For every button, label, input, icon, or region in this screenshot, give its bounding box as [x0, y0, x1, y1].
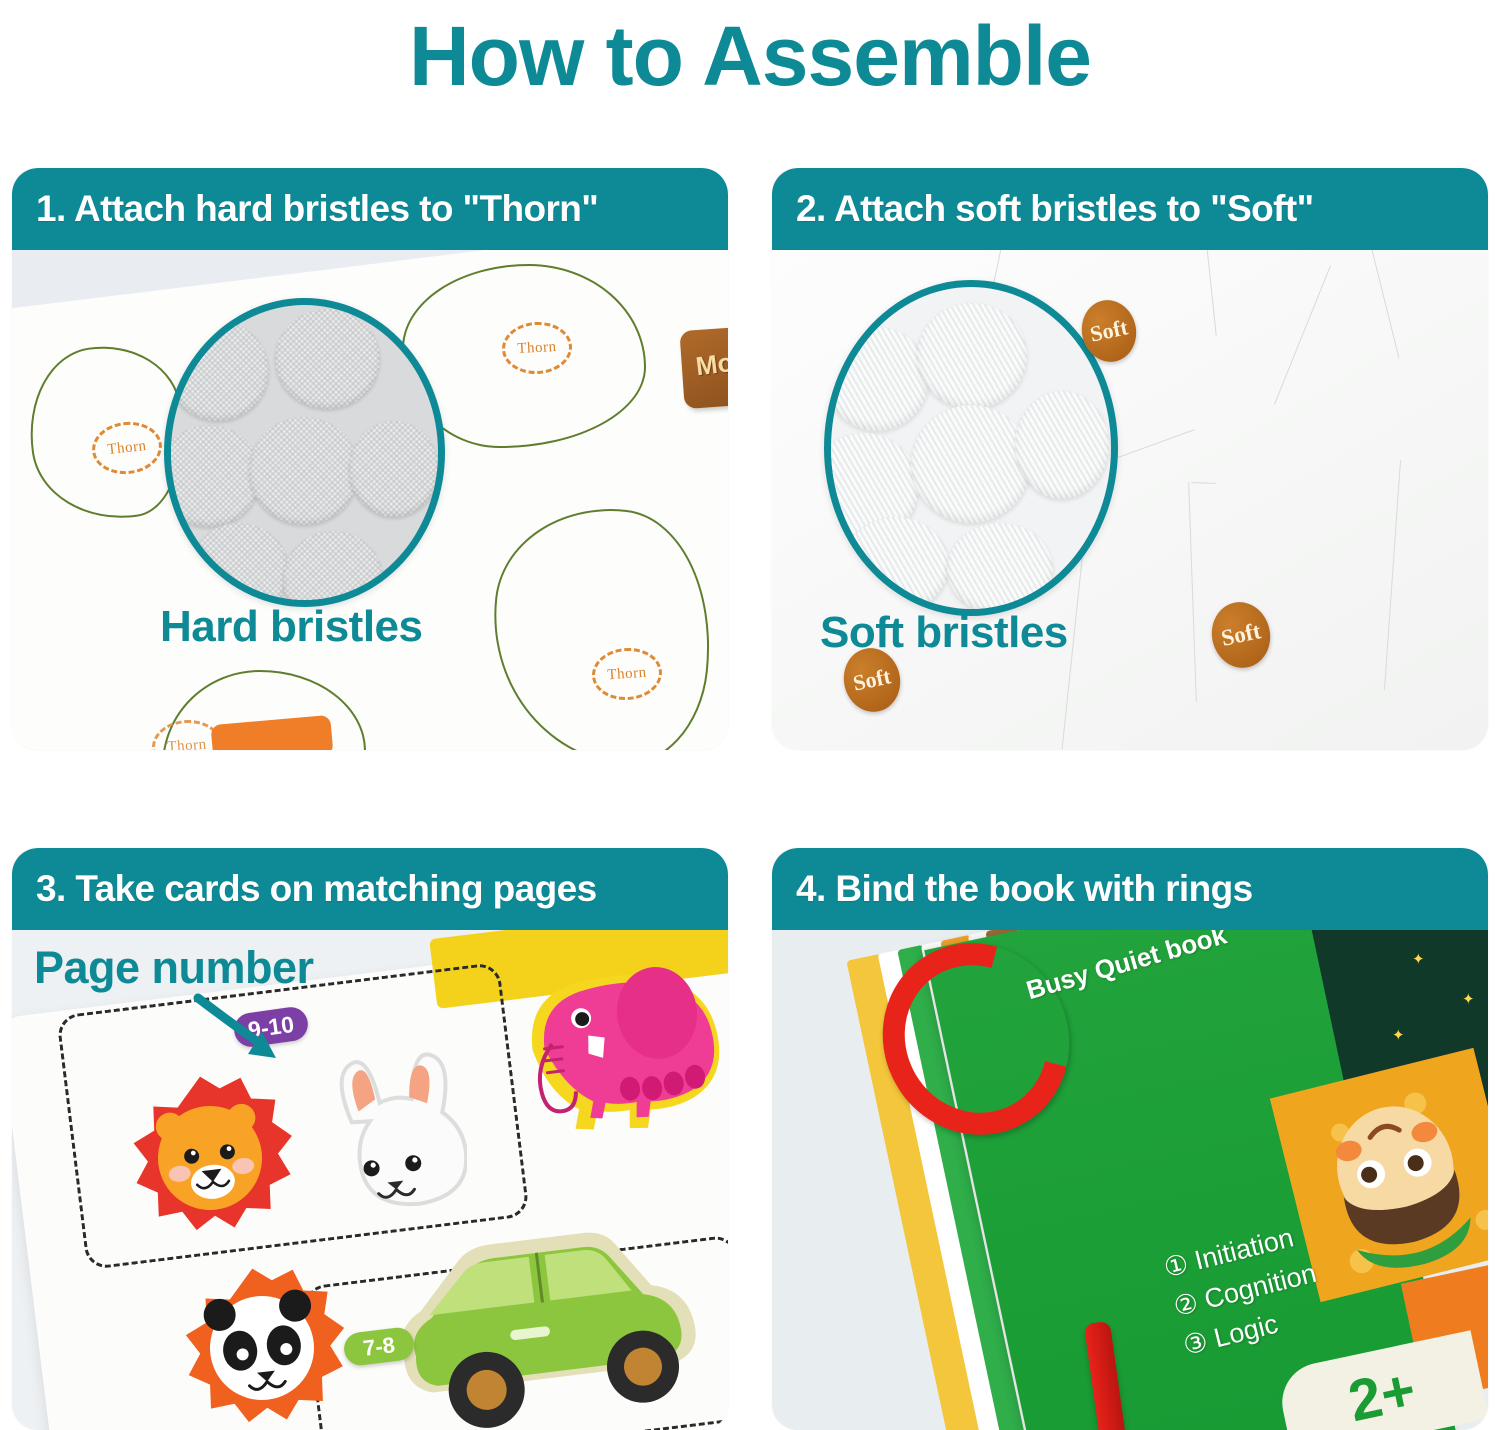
page-title: How to Assemble: [0, 4, 1500, 108]
velcro-dot: [283, 531, 383, 607]
panel-4-body: ✦ ✦ ✦ Busy Quiet book: [772, 930, 1488, 1430]
panel-1-photo: Thorn Thorn Thorn Thorn Mor Hard bristle…: [12, 250, 728, 750]
velcro-dot: [843, 517, 949, 613]
star-icon: ✦: [1392, 1026, 1405, 1044]
hard-bristles-caption: Hard bristles: [160, 602, 422, 652]
panel-step-1: 1. Attach hard bristles to "Thorn" Thorn…: [12, 168, 728, 750]
panel-2-body: Soft Soft Soft Soft bristles: [772, 250, 1488, 750]
velcro-dot: [1015, 391, 1109, 499]
panel-2-header-label: 2. Attach soft bristles to "Soft": [796, 188, 1314, 230]
velcro-dot: [917, 303, 1027, 409]
panel-3-header-label: 3. Take cards on matching pages: [36, 868, 597, 910]
velcro-dot: [249, 417, 359, 525]
panel-2-header: 2. Attach soft bristles to "Soft": [772, 168, 1488, 250]
velcro-dot: [911, 405, 1031, 523]
panel-step-3: 3. Take cards on matching pages: [12, 848, 728, 1430]
panel-3-photo: 9-10 7-8 Page number: [12, 930, 728, 1430]
elephant-sticker: [492, 940, 728, 1140]
paper-crease: [1274, 265, 1331, 404]
panel-step-2: 2. Attach soft bristles to "Soft" Soft: [772, 168, 1488, 750]
velcro-dot: [947, 523, 1053, 615]
panel-step-4: 4. Bind the book with rings ✦ ✦ ✦: [772, 848, 1488, 1430]
soft-marker: Soft: [1206, 597, 1276, 674]
soft-bristles-caption: Soft bristles: [820, 608, 1068, 658]
brown-card: Mor: [679, 325, 728, 409]
panda-sticker: [170, 1260, 355, 1430]
paper-crease: [1191, 482, 1215, 486]
panel-1-body: Thorn Thorn Thorn Thorn Mor Hard bristle…: [12, 250, 728, 750]
velcro-dot: [189, 523, 289, 607]
velcro-dot: [349, 421, 439, 517]
lion-sticker: [120, 1070, 300, 1245]
car-sticker: [382, 1200, 712, 1430]
panel-4-photo: ✦ ✦ ✦ Busy Quiet book: [772, 930, 1488, 1430]
velcro-dot: [825, 327, 929, 431]
paper-crease: [1204, 250, 1216, 336]
panel-4-header: 4. Bind the book with rings: [772, 848, 1488, 930]
panel-1-header-label: 1. Attach hard bristles to "Thorn": [36, 188, 598, 230]
velcro-dot: [275, 309, 380, 409]
magnifier-soft-bristles: [824, 280, 1118, 616]
panel-1-header: 1. Attach hard bristles to "Thorn": [12, 168, 728, 250]
age-badge-label: 2+: [1343, 1355, 1422, 1430]
velcro-dot: [167, 321, 269, 421]
panel-3-header: 3. Take cards on matching pages: [12, 848, 728, 930]
magnifier-hard-bristles: [164, 298, 445, 607]
paper-crease: [1384, 460, 1401, 690]
panel-2-photo: Soft Soft Soft Soft bristles: [772, 250, 1488, 750]
panel-3-body: 9-10 7-8 Page number: [12, 930, 728, 1430]
velcro-dot: [164, 425, 261, 527]
star-icon: ✦: [1412, 950, 1425, 968]
panel-4-header-label: 4. Bind the book with rings: [796, 868, 1253, 910]
page-number-caption: Page number: [34, 942, 314, 994]
star-icon: ✦: [1462, 990, 1475, 1008]
paper-crease: [1188, 482, 1197, 702]
page-number-arrow-icon: [192, 992, 302, 1070]
brown-card-label: Mor: [694, 346, 728, 383]
paper-crease: [1369, 250, 1399, 358]
